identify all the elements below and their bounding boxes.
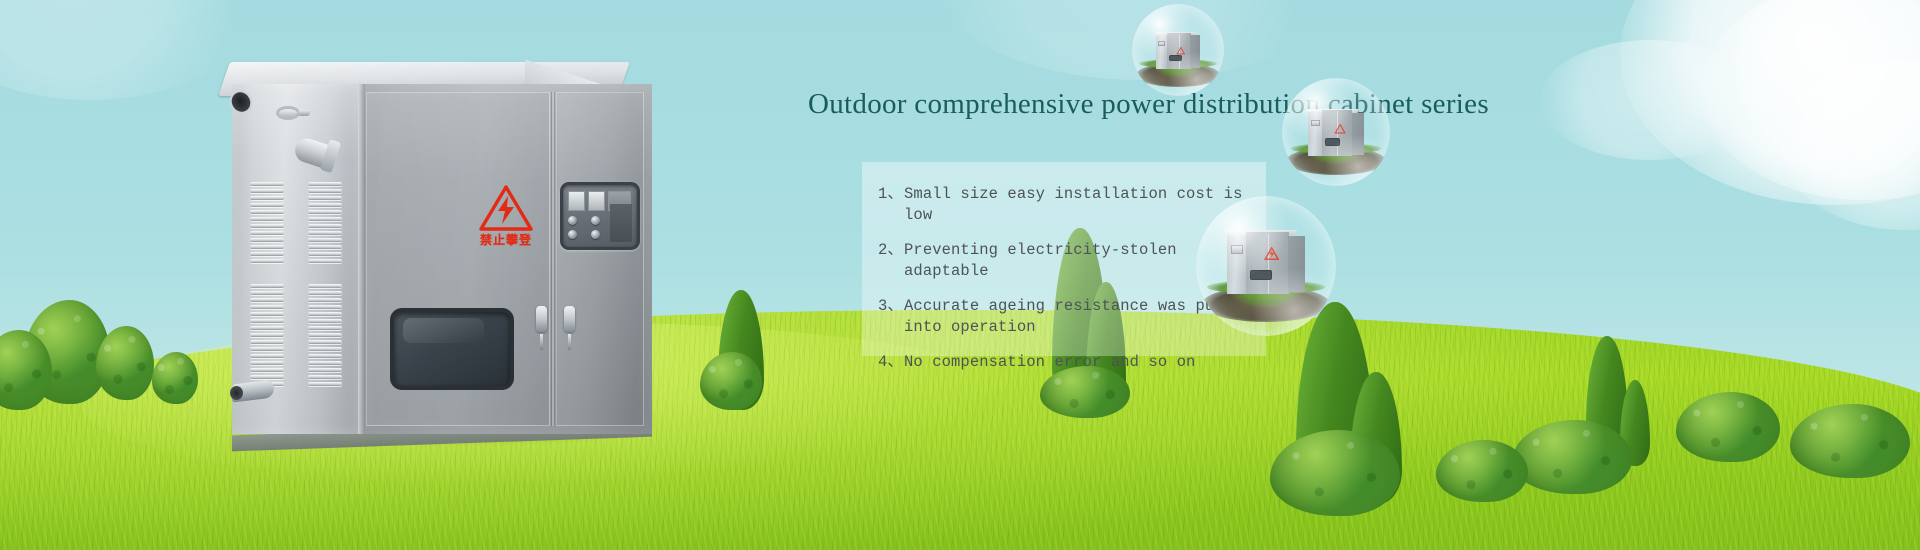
warning-triangle-icon: [478, 184, 534, 232]
bush-icon: [700, 352, 762, 410]
list-item: 3、 Accurate ageing resistance was put in…: [878, 296, 1246, 338]
high-voltage-warning-icon: 禁止攀登: [470, 184, 542, 258]
bush-icon: [1676, 392, 1780, 462]
product-banner: 禁止攀登: [0, 0, 1920, 550]
product-bubble-icon: [1282, 78, 1390, 186]
panel-button[interactable]: [568, 230, 577, 239]
lifting-eye-bolt-stem: [298, 110, 310, 116]
ventilation-louver-icon: [250, 182, 284, 263]
panel-button[interactable]: [591, 216, 600, 225]
panel-button-grid[interactable]: [568, 216, 606, 239]
door-seam: [551, 92, 555, 426]
door-latch-rod: [568, 334, 571, 350]
list-item-number: 2、: [878, 240, 903, 282]
list-item-label: Accurate ageing resistance was put into …: [903, 296, 1246, 338]
bubble-glass-highlight: [1282, 78, 1390, 186]
bush-icon: [1436, 440, 1528, 502]
bubble-glass-highlight: [1196, 196, 1336, 336]
list-item-number: 1、: [878, 184, 903, 226]
cloud-icon: [1780, 60, 1920, 230]
cloud-icon: [1700, 0, 1920, 200]
bush-icon: [1512, 420, 1632, 494]
observation-window-icon: [390, 308, 514, 390]
ventilation-louver-icon: [250, 284, 284, 386]
ventilation-louver-icon: [308, 182, 342, 263]
meter-window: [568, 191, 585, 211]
cabinet-front-face: 禁止攀登: [358, 84, 652, 434]
bush-icon: [96, 326, 154, 400]
panel-button[interactable]: [591, 230, 600, 239]
cabinet-door-right[interactable]: [556, 92, 644, 426]
lifting-eye-bolt-icon: [276, 106, 300, 120]
bush-icon: [152, 352, 198, 404]
cloud-icon: [1540, 40, 1760, 160]
list-item-label: Small size easy installation cost is low: [903, 184, 1246, 226]
ventilation-louver-icon: [308, 284, 342, 386]
meter-window: [588, 191, 605, 211]
warning-label: 禁止攀登: [480, 234, 532, 246]
list-item: 4、 No compensation error and so on: [878, 352, 1246, 373]
list-item-label: No compensation error and so on: [903, 352, 1195, 373]
door-handle-icon[interactable]: [536, 306, 547, 332]
list-item-number: 3、: [878, 296, 903, 338]
product-bubble-icon: [1196, 196, 1336, 336]
cloud-icon: [1620, 0, 1920, 205]
door-latch-rod: [540, 334, 543, 350]
lower-pipe-opening: [230, 386, 243, 400]
bush-icon: [1790, 404, 1910, 478]
meter-panel-icon[interactable]: [560, 182, 640, 250]
cabinet-side-panel: [232, 84, 358, 434]
panel-blank-plate: [610, 204, 632, 242]
list-item: 1、 Small size easy installation cost is …: [878, 184, 1246, 226]
bubble-glass-highlight: [1132, 4, 1224, 96]
product-bubble-icon: [1132, 4, 1224, 96]
door-handle-icon[interactable]: [564, 306, 575, 332]
list-item-label: Preventing electricity-stolen adaptable: [903, 240, 1246, 282]
power-distribution-cabinet: 禁止攀登: [232, 62, 652, 434]
panel-button[interactable]: [568, 216, 577, 225]
list-item: 2、 Preventing electricity-stolen adaptab…: [878, 240, 1246, 282]
bush-icon: [1040, 366, 1130, 418]
cabinet-hinge-strip: [358, 84, 365, 434]
list-item-number: 4、: [878, 352, 903, 373]
window-gloss: [403, 318, 484, 343]
